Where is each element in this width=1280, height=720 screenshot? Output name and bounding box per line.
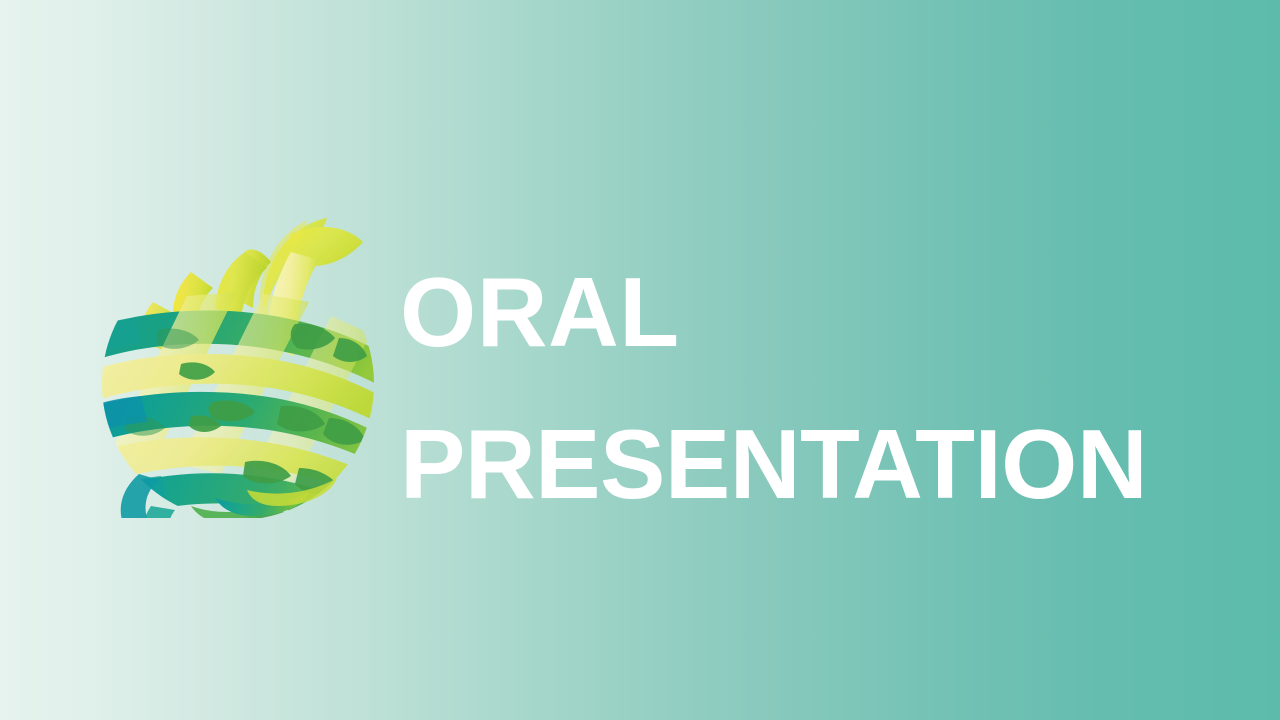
- page-title-line-2: PRESENTATION: [400, 388, 1220, 540]
- page-title-line-1: ORAL: [400, 236, 1220, 388]
- slide-title-block: ORAL PRESENTATION: [400, 236, 1220, 540]
- globe-ribbon-logo: [95, 206, 381, 518]
- presentation-slide: ORAL PRESENTATION: [0, 0, 1280, 720]
